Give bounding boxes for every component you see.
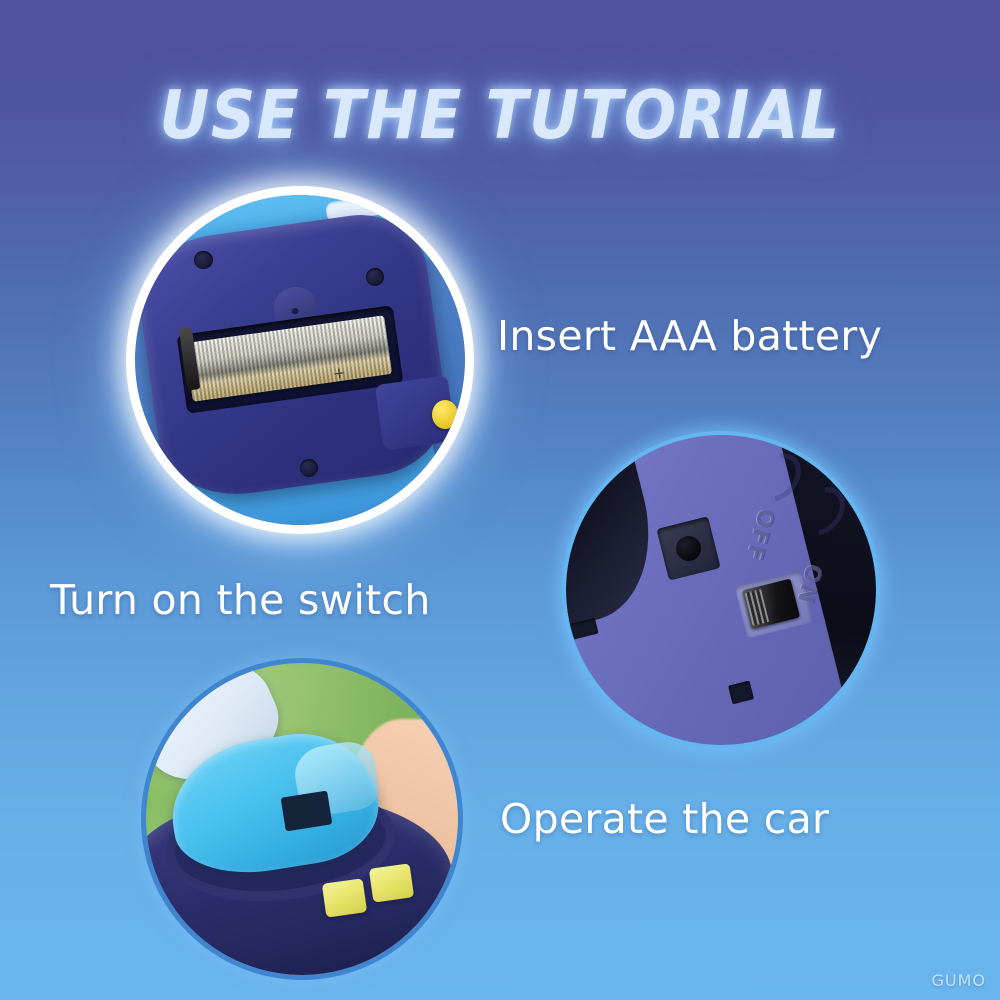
step-3-caption: Operate the car <box>500 795 829 843</box>
launch-button-left[interactable] <box>322 879 367 919</box>
tutorial-poster: USE THE TUTORIAL + Insert AAA battery <box>0 0 1000 1000</box>
step-1-caption: Insert AAA battery <box>497 312 882 360</box>
operate-car-photo-inner <box>146 663 458 975</box>
launch-button-right[interactable] <box>368 863 413 903</box>
page-title: USE THE TUTORIAL <box>40 76 960 154</box>
battery-compartment-photo: + <box>135 195 465 525</box>
screw-hole-top-left <box>194 251 212 269</box>
screw-hole-top-right <box>366 268 384 286</box>
power-switch-photo: OFF ON <box>566 435 876 745</box>
watermark: GUMO <box>931 971 986 990</box>
operate-car-photo <box>146 663 458 975</box>
battery-plus-marking: + <box>332 366 348 382</box>
power-switch-photo-inner: OFF ON <box>566 435 876 745</box>
step-2-caption: Turn on the switch <box>50 576 431 624</box>
battery-compartment-photo-inner: + <box>135 195 465 525</box>
